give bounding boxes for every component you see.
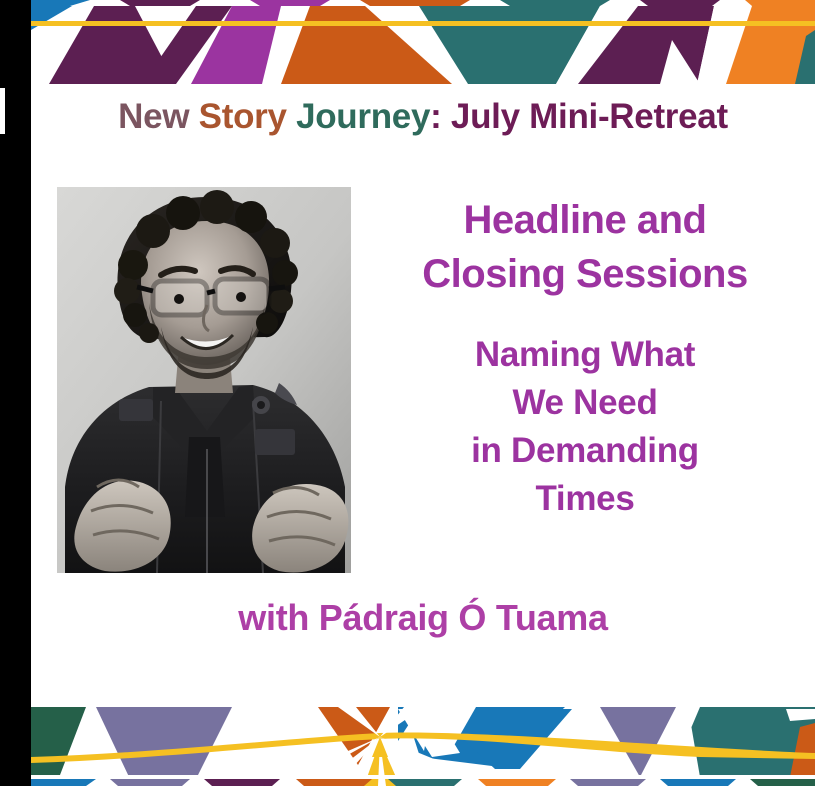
- event-title-word-new: New: [118, 97, 199, 136]
- shape-white-gap-b7: [786, 709, 815, 721]
- shape-purple-sliver: [120, 0, 200, 6]
- shape-teal-sliver: [500, 0, 610, 6]
- subhead-line-1: Naming What: [366, 331, 804, 379]
- bottom-decorative-banner: [0, 697, 815, 786]
- top-banner-graphic: [0, 0, 815, 88]
- poster-content: New Story Journey: July Mini-Retreat: [0, 88, 815, 697]
- subhead-line-4: Times: [366, 475, 804, 523]
- subhead-line-2: We Need: [366, 379, 804, 427]
- row2-green: [750, 779, 815, 786]
- left-white-notch: [0, 88, 5, 134]
- row-divider: [31, 775, 815, 779]
- subhead-line-3: in Demanding: [366, 427, 804, 475]
- subhead-block: Naming What We Need in Demanding Times: [366, 331, 804, 523]
- row2-slate-2: [570, 779, 646, 786]
- shape-orange-sliver: [745, 0, 815, 6]
- event-title-word-journey: Journey: [296, 97, 430, 136]
- presenter-name: with Pádraig Ó Tuama: [31, 597, 815, 639]
- poster-canvas: New Story Journey: July Mini-Retreat: [0, 0, 815, 786]
- jacket-pin-center: [257, 401, 265, 409]
- row2-slate: [110, 779, 190, 786]
- event-title: New Story Journey: July Mini-Retreat: [31, 95, 815, 139]
- row2-blue: [31, 779, 96, 786]
- event-title-word-retreat: : July Mini-Retreat: [430, 97, 728, 136]
- row2-rust: [296, 779, 372, 786]
- shape-rust-sliver: [360, 0, 470, 6]
- jacket-pocket-left: [119, 399, 153, 421]
- headline-line-2: Closing Sessions: [366, 247, 804, 301]
- top-decorative-banner: [0, 0, 815, 88]
- jacket-pocket-right: [255, 429, 295, 455]
- portrait-graphic: [57, 187, 351, 573]
- shape-purple-sliver-2: [640, 0, 720, 6]
- presenter-portrait: [57, 187, 351, 573]
- headline-block: Headline and Closing Sessions: [366, 193, 804, 301]
- row2-blue-2: [660, 779, 736, 786]
- row2-orange: [478, 779, 556, 786]
- shirt-front: [185, 437, 225, 517]
- gold-stripe-top: [31, 21, 815, 26]
- event-title-word-story: Story: [199, 97, 296, 136]
- row2-teal: [388, 779, 462, 786]
- headline-line-1: Headline and: [366, 193, 804, 247]
- shape-magenta-sliver: [250, 0, 330, 6]
- bottom-banner-graphic: [0, 697, 815, 786]
- row2-purple: [204, 779, 280, 786]
